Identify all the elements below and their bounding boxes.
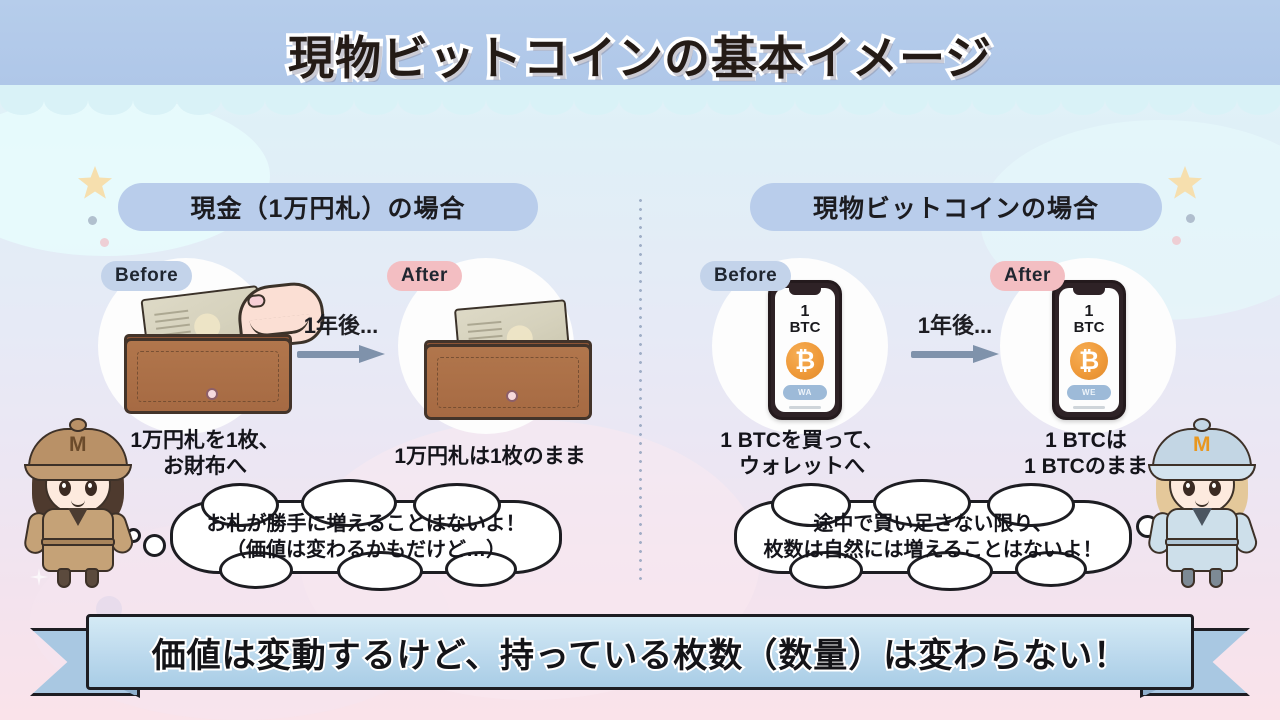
decor-dot [1172,236,1181,245]
panel-heading-bitcoin: 現物ビットコインの場合 [750,183,1162,231]
decor-dot [88,216,97,225]
character-detective-blue: M [1132,412,1272,587]
panel-divider [639,196,642,582]
arrow-right-icon [911,348,999,360]
transition-arrow-bitcoin: 1年後... [900,308,1010,360]
badge-after-bitcoin: After [990,261,1065,291]
caption-before-bitcoin: 1 BTCを買って、 ウォレットへ [690,428,914,481]
phone-unit: BTC [1059,320,1119,335]
badge-before-bitcoin: Before [700,261,791,291]
wallet-illustration-after [412,296,612,422]
thought-bubble-text: お札が勝手に増えることはないよ！ （価値は変わるかもだけど…） [207,511,526,563]
caption-after-cash: 1万円札は1枚のまま [372,444,608,470]
badge-before-cash: Before [101,261,192,291]
cap-letter: M [1193,434,1211,455]
phone-illustration-after: 1 BTC ₿ WE [1052,280,1126,420]
phone-amount: 1 [1059,304,1119,320]
phone-wallet-button[interactable]: WA [783,385,827,400]
star-icon [78,166,112,200]
decor-dot [100,238,109,247]
summary-banner: 価値は変動するけど、持っている枚数（数量）は変わらない！ [30,610,1250,706]
page-title: 現物ビットコインの基本イメージ [0,22,1280,88]
bitcoin-icon: ₿ [786,342,824,380]
cap-letter: M [69,434,87,455]
badge-after-cash: After [387,261,462,291]
transition-label: 1年後... [286,308,396,340]
thought-bubble-bitcoin: 途中で買い足さない限り、 枚数は自然には増えることはないよ！ [734,500,1132,574]
arrow-right-icon [297,348,385,360]
phone-illustration-before: 1 BTC ₿ WA [768,280,842,420]
phone-amount: 1 [775,304,835,320]
summary-banner-text: 価値は変動するけど、持っている枚数（数量）は変わらない！ [152,628,1129,677]
decor-dot [1186,214,1195,223]
panel-heading-cash: 現金（1万円札）の場合 [118,183,538,231]
phone-wallet-button[interactable]: WE [1067,385,1111,400]
character-detective-brown: M [8,412,148,587]
phone-unit: BTC [775,320,835,335]
background-blob [0,96,270,256]
thought-bubble-cash: お札が勝手に増えることはないよ！ （価値は変わるかもだけど…） [170,500,562,574]
thought-bubble-text: 途中で買い足さない限り、 枚数は自然には増えることはないよ！ [764,511,1103,563]
star-icon [1168,166,1202,200]
bitcoin-icon: ₿ [1070,342,1108,380]
ribbon-body: 価値は変動するけど、持っている枚数（数量）は変わらない！ [86,614,1194,690]
transition-arrow-cash: 1年後... [286,308,396,360]
transition-label: 1年後... [900,308,1010,340]
wallet-illustration-before [112,290,312,420]
